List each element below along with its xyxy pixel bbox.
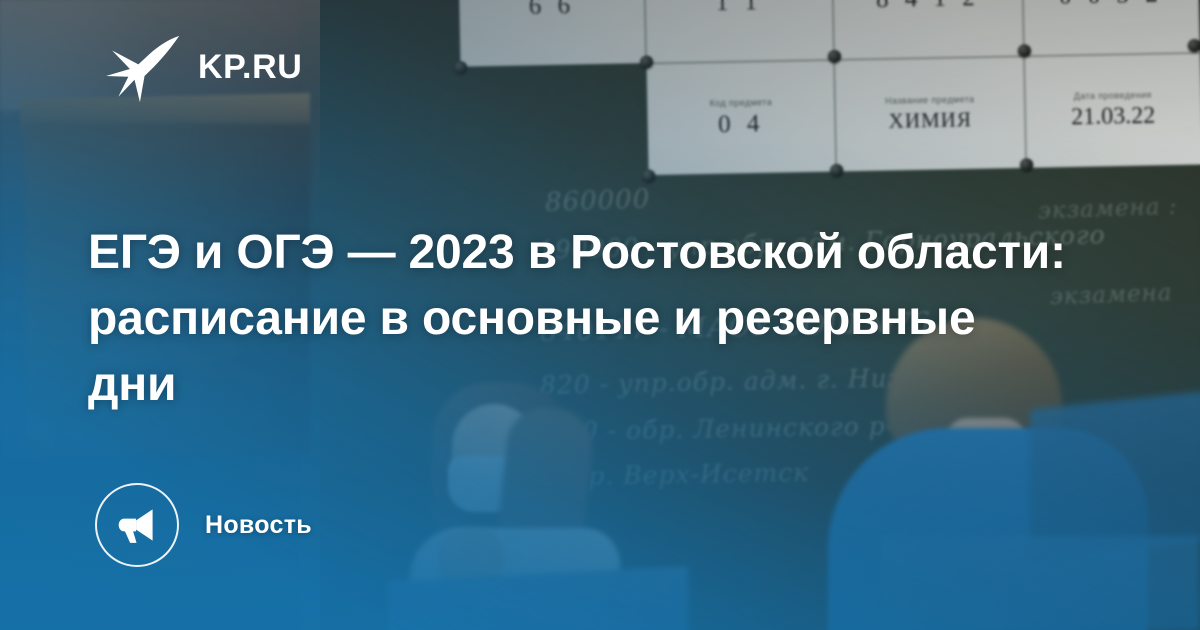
brand-logo[interactable]: KP.RU — [104, 32, 302, 106]
page-title: ЕГЭ и ОГЭ — 2023 в Ростовской области: р… — [88, 220, 1068, 418]
share-card: 6 6 1 1 8 4 1 2 0 0 3 2 Код предмета 0 4… — [0, 0, 1200, 630]
status-badge[interactable]: Новость — [95, 483, 312, 567]
badge-icon-circle — [95, 483, 179, 567]
swallow-bird-icon — [104, 32, 182, 106]
headline-text: ЕГЭ и ОГЭ — 2023 в Ростовской области: р… — [88, 226, 1066, 411]
badge-label: Новость — [205, 511, 312, 540]
brand-wordmark: KP.RU — [198, 50, 302, 88]
card-content: KP.RU ЕГЭ и ОГЭ — 2023 в Ростовской обла… — [0, 0, 1200, 630]
megaphone-icon — [115, 503, 159, 547]
